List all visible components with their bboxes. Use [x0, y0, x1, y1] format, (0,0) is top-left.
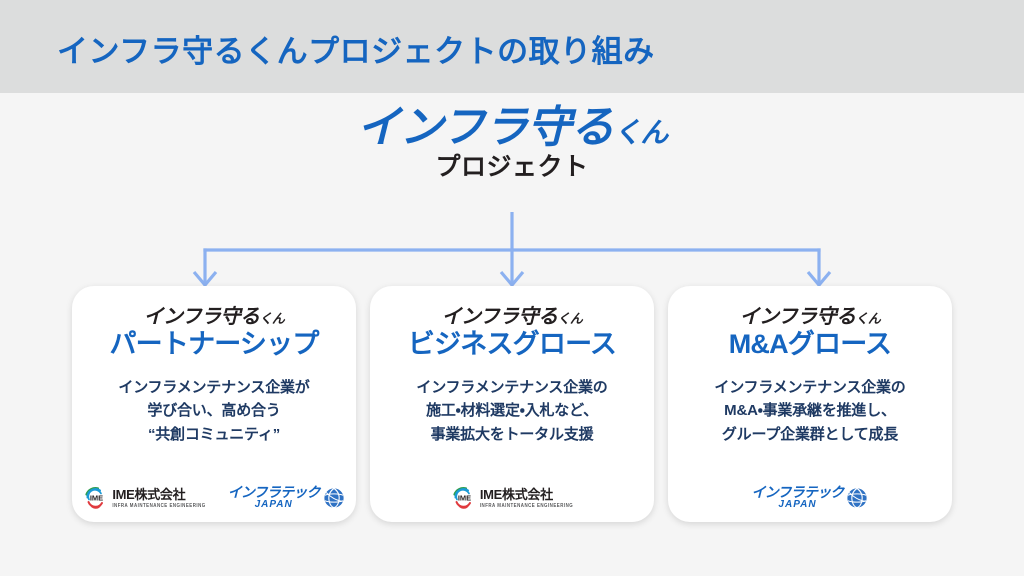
arrowhead-right-icon — [808, 272, 830, 285]
infratech-name: インフラテック — [228, 485, 320, 499]
card-body-line: 施工・材料選定・入札など、 — [416, 399, 607, 422]
card-body: インフラメンテナンス企業の 施工・材料選定・入札など、 事業拡大をトータル支援 — [416, 376, 607, 446]
page-title: インフラ守るくんプロジェクトの取り組み — [57, 26, 655, 71]
hero-logo-kun: くん — [613, 117, 667, 148]
card-body-line: グループ企業群として成長 — [714, 423, 905, 446]
card-partnership[interactable]: インフラ守るくん パートナーシップ インフラメンテナンス企業が 学び合い、高め合… — [72, 286, 356, 522]
card-eyebrow: インフラ守るくん — [740, 306, 881, 328]
infratech-logo-text: インフラテック JAPAN — [752, 485, 844, 510]
ime-logo-text: IME株式会社 INFRA MAINTENANCE ENGINEERING — [112, 488, 205, 507]
card-eyebrow-kun: くん — [259, 311, 284, 326]
card-body: インフラメンテナンス企業の M&A・事業承継を推進し、 グループ企業群として成長 — [714, 376, 905, 446]
card-body-line: インフラメンテナンス企業の — [714, 376, 905, 399]
card-body-line: 事業拡大をトータル支援 — [416, 423, 607, 446]
card-body-line: “共創コミュニティ” — [118, 423, 309, 446]
ime-swirl-icon: IME — [83, 486, 107, 510]
card-body: インフラメンテナンス企業が 学び合い、高め合う “共創コミュニティ” — [118, 376, 309, 446]
card-ma-growth[interactable]: インフラ守るくん M&Aグロース インフラメンテナンス企業の M&A・事業承継を… — [668, 286, 952, 522]
infratech-japan-logo: インフラテック JAPAN — [228, 485, 345, 510]
ime-logo: IME IME株式会社 INFRA MAINTENANCE ENGINEERIN… — [83, 486, 205, 510]
card-eyebrow-text: インフラ守る — [740, 306, 856, 328]
ime-swirl-icon: IME — [451, 486, 475, 510]
card-heading: ビジネスグロース — [408, 329, 616, 360]
card-business-growth[interactable]: インフラ守るくん ビジネスグロース インフラメンテナンス企業の 施工・材料選定・… — [370, 286, 654, 522]
card-body-line: インフラメンテナンス企業の — [416, 376, 607, 399]
infratech-japan-label: JAPAN — [778, 500, 816, 510]
connector-arrows — [0, 212, 1024, 292]
ime-company-name: IME株式会社 — [480, 488, 573, 501]
ime-tagline: INFRA MAINTENANCE ENGINEERING — [480, 503, 573, 509]
card-heading: パートナーシップ — [109, 329, 318, 360]
cards-row: インフラ守るくん パートナーシップ インフラメンテナンス企業が 学び合い、高め合… — [72, 286, 952, 522]
card-eyebrow-kun: くん — [855, 311, 880, 326]
infratech-japan-label: JAPAN — [255, 500, 293, 510]
hero-logo: インフラ守るくん プロジェクト — [0, 104, 1024, 181]
svg-text:IME: IME — [458, 494, 471, 503]
card-eyebrow-text: インフラ守る — [144, 306, 260, 328]
card-logos: インフラテック JAPAN — [668, 485, 952, 510]
infratech-name: インフラテック — [752, 485, 844, 499]
infratech-japan-logo: インフラテック JAPAN — [752, 485, 869, 510]
ime-logo-text: IME株式会社 INFRA MAINTENANCE ENGINEERING — [480, 488, 573, 507]
card-eyebrow-text: インフラ守る — [442, 306, 558, 328]
header-bar: インフラ守るくんプロジェクトの取り組み — [0, 0, 1024, 93]
ime-logo: IME IME株式会社 INFRA MAINTENANCE ENGINEERIN… — [451, 486, 573, 510]
card-heading: M&Aグロース — [729, 329, 892, 360]
infratech-globe-icon — [846, 487, 868, 509]
card-logos: IME IME株式会社 INFRA MAINTENANCE ENGINEERIN… — [72, 485, 356, 510]
ime-company-name: IME株式会社 — [112, 488, 205, 501]
ime-tagline: INFRA MAINTENANCE ENGINEERING — [112, 503, 205, 509]
hero-logo-main: インフラ守るくん — [0, 104, 1024, 152]
svg-text:IME: IME — [90, 493, 103, 502]
infratech-logo-text: インフラテック JAPAN — [228, 485, 320, 510]
slide-root: インフラ守るくんプロジェクトの取り組み インフラ守るくん プロジェクト — [0, 0, 1024, 576]
hero-logo-sub: プロジェクト — [0, 154, 1024, 182]
arrowhead-center-icon — [501, 272, 523, 285]
card-eyebrow-kun: くん — [557, 311, 582, 326]
hero-logo-main-text: インフラ守る — [357, 103, 614, 152]
card-eyebrow: インフラ守るくん — [442, 306, 583, 328]
card-body-line: インフラメンテナンス企業が — [118, 376, 309, 399]
arrowhead-left-icon — [194, 272, 216, 285]
card-eyebrow: インフラ守るくん — [144, 306, 285, 328]
card-body-line: 学び合い、高め合う — [118, 399, 309, 422]
infratech-globe-icon — [323, 487, 345, 509]
card-body-line: M&A・事業承継を推進し、 — [714, 399, 905, 422]
card-logos: IME IME株式会社 INFRA MAINTENANCE ENGINEERIN… — [370, 486, 654, 510]
